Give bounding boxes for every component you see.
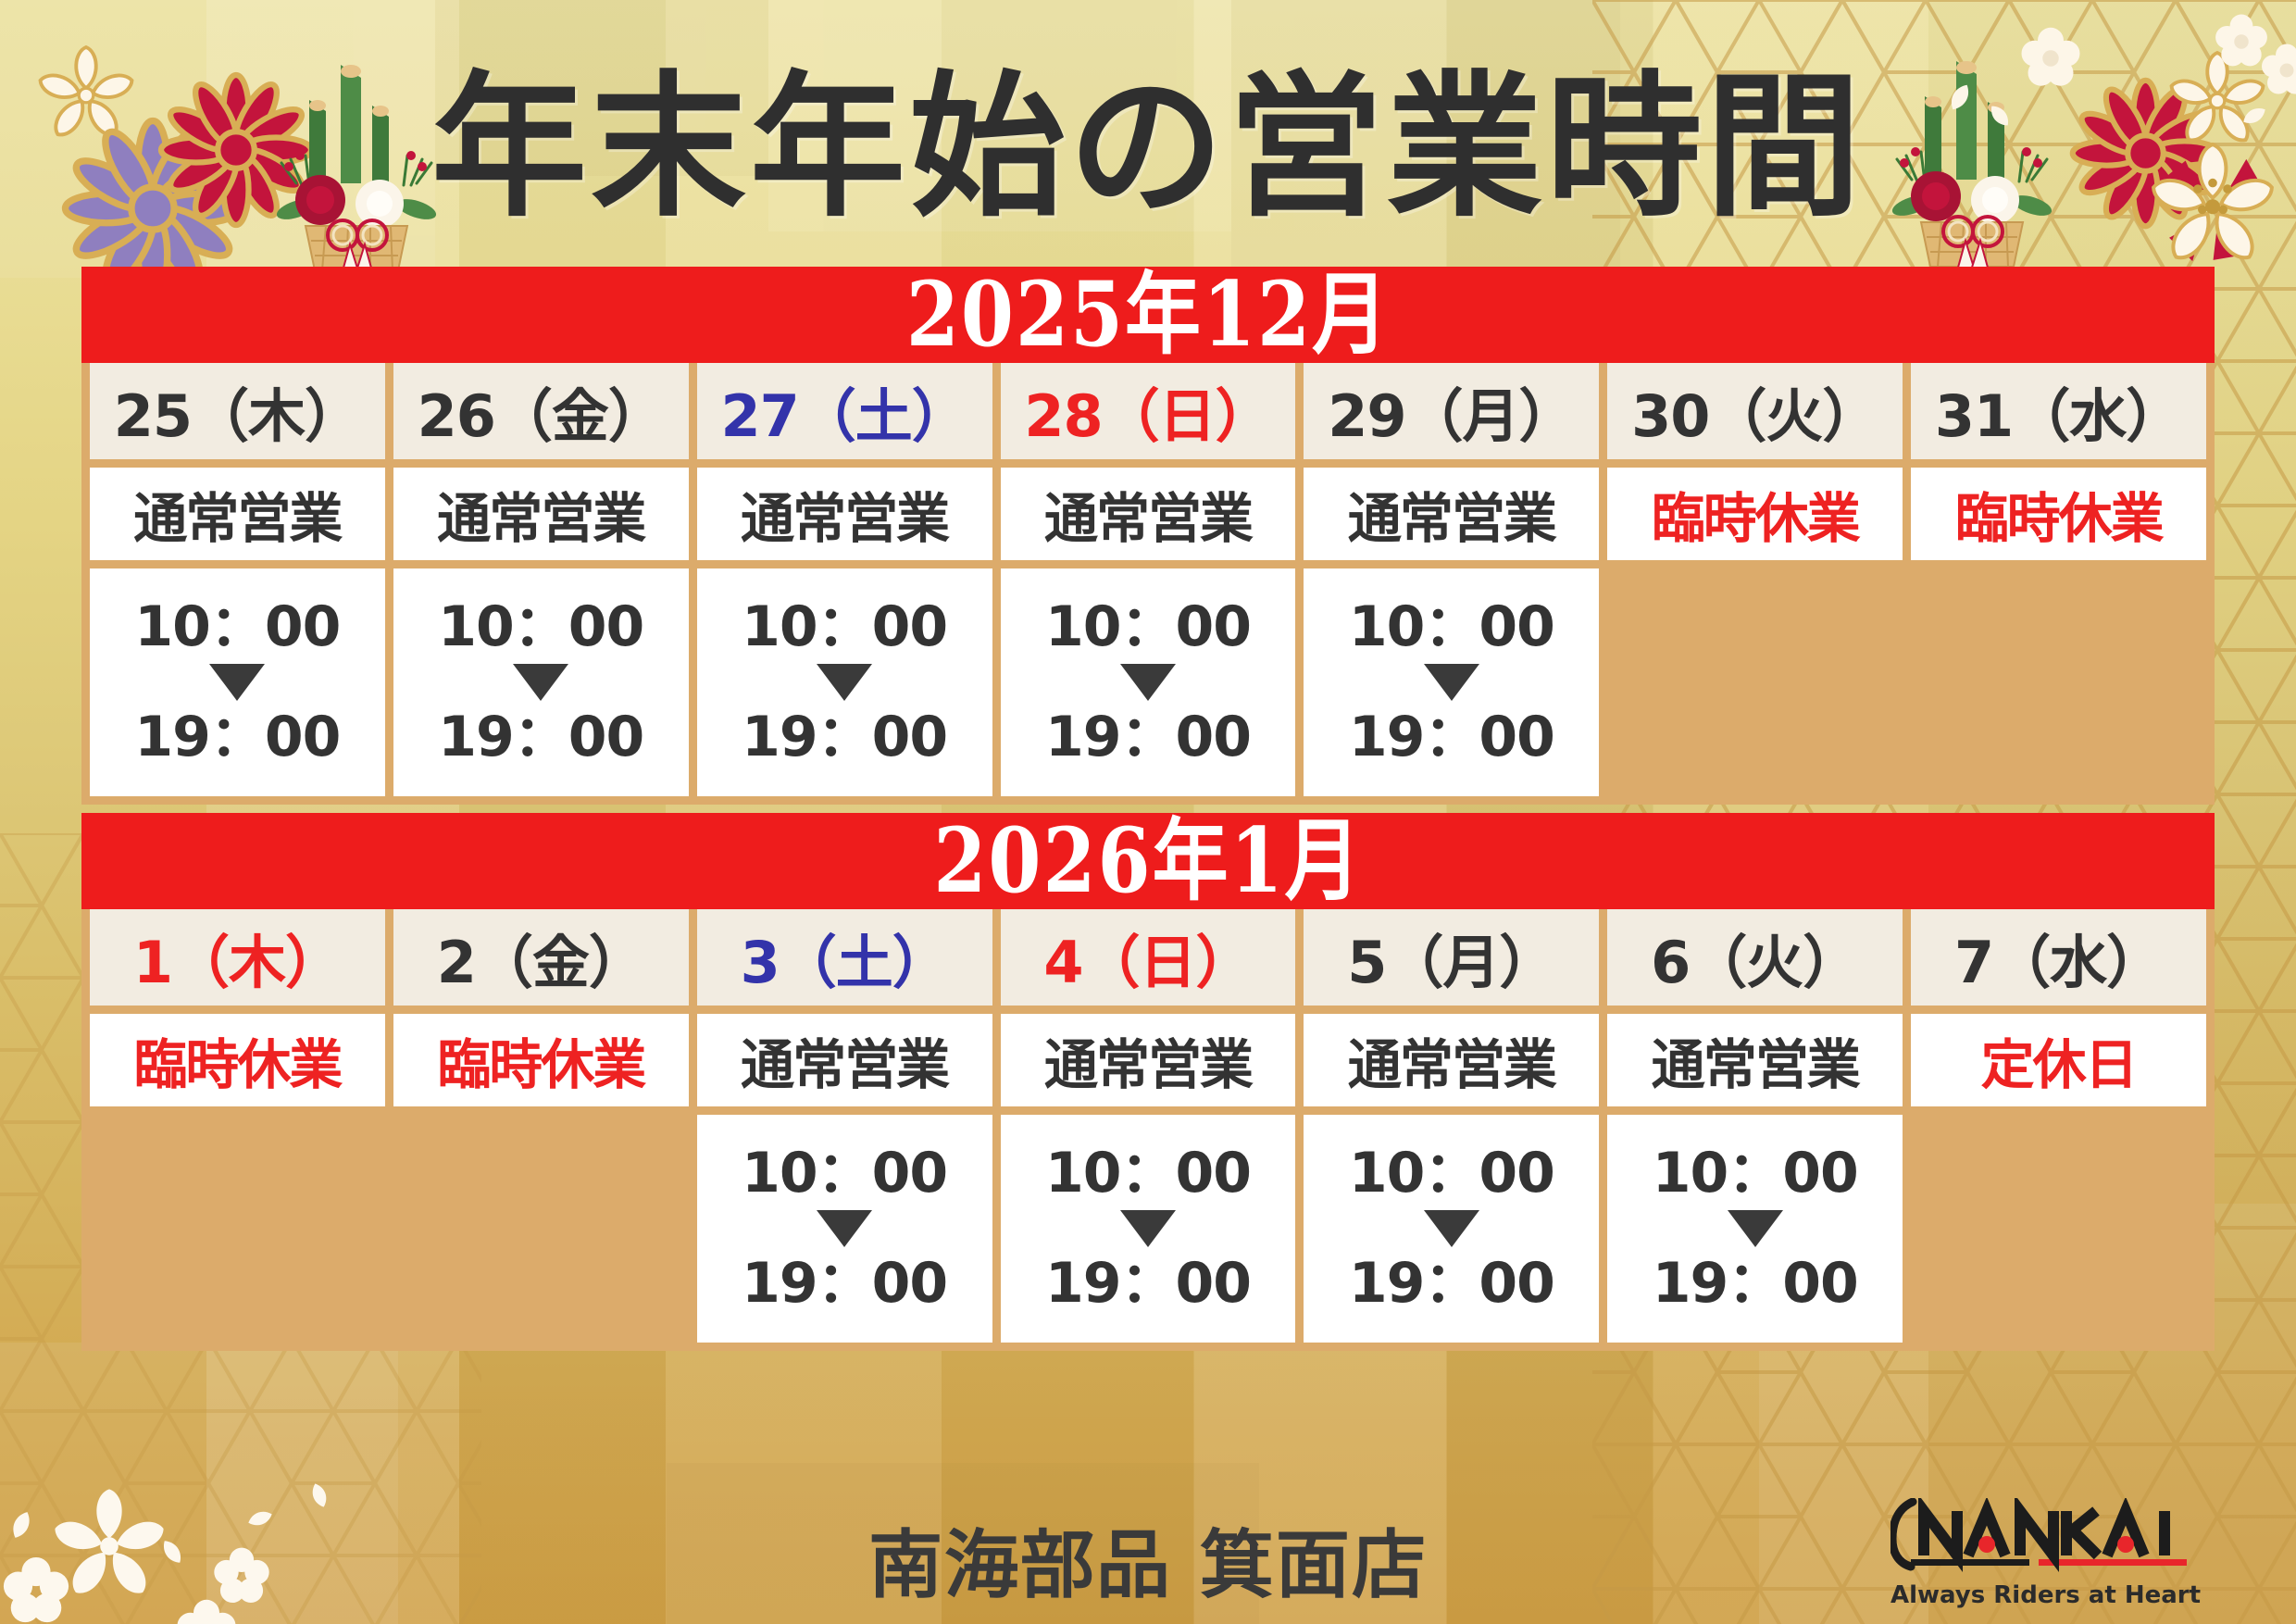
day-header-cell: 2（金） (393, 909, 689, 1006)
down-arrow-icon (1120, 664, 1176, 701)
day-header-cell: 29（月） (1304, 363, 1599, 459)
status-cell: 通常営業 (697, 468, 992, 560)
status-cell: 通常営業 (1607, 1014, 1903, 1106)
hours-cell: 10：00 19：00 (1607, 1115, 1903, 1343)
closing-time: 19：00 (134, 708, 340, 767)
poster-footer: 南海部品 箕面店 (0, 1476, 2296, 1624)
status-cell: 通常営業 (90, 468, 385, 560)
hours-cell: 10：00 19：00 (697, 568, 992, 796)
closing-time: 19：00 (1349, 1255, 1554, 1313)
status-row-december: 通常営業 通常営業 通常営業 通常営業 通常営業 臨時休業 臨時休業 (81, 468, 2215, 568)
hours-cell: 10：00 19：00 (1304, 1115, 1599, 1343)
day-header-cell: 1（木） (90, 909, 385, 1006)
day-header-cell: 28（日） (1001, 363, 1296, 459)
opening-time: 10：00 (1045, 1144, 1251, 1203)
down-arrow-icon (817, 664, 872, 701)
poster-title-row: 年末年始の営業時間 (0, 26, 2296, 267)
status-cell: 通常営業 (1001, 468, 1296, 560)
status-cell: 臨時休業 (1607, 468, 1903, 560)
status-cell: 通常営業 (697, 1014, 992, 1106)
down-arrow-icon (817, 1210, 872, 1247)
hours-cell-empty (393, 1115, 689, 1343)
day-header-cell: 7（水） (1911, 909, 2206, 1006)
closing-time: 19：00 (742, 1255, 947, 1313)
hours-cell: 10：00 19：00 (1001, 1115, 1296, 1343)
status-row-january: 臨時休業 臨時休業 通常営業 通常営業 通常営業 通常営業 定休日 (81, 1014, 2215, 1115)
down-arrow-icon (1424, 1210, 1479, 1247)
hours-cell: 10：00 19：00 (90, 568, 385, 796)
day-header-row-december: 25（木） 26（金） 27（土） 28（日） 29（月） 30（火） 31（水… (81, 363, 2215, 468)
closing-time: 19：00 (1349, 708, 1554, 767)
closing-time: 19：00 (1653, 1255, 1858, 1313)
status-cell: 通常営業 (1304, 468, 1599, 560)
hours-cell: 10：00 19：00 (1001, 568, 1296, 796)
status-cell: 臨時休業 (393, 1014, 689, 1106)
down-arrow-icon (1120, 1210, 1176, 1247)
day-header-cell: 6（火） (1607, 909, 1903, 1006)
logo-tagline: Always Riders at Heart (1890, 1581, 2196, 1609)
opening-time: 10：00 (438, 598, 643, 656)
status-cell: 臨時休業 (1911, 468, 2206, 560)
hours-cell: 10：00 19：00 (697, 1115, 992, 1343)
page-title: 年末年始の営業時間 (431, 69, 1865, 224)
opening-time: 10：00 (134, 598, 340, 656)
month-band-label-january: 2026年1月 (933, 817, 1362, 906)
down-arrow-icon (209, 664, 265, 701)
logo-wordmark: NANKAI (2196, 1498, 2197, 1499)
nankai-logo-icon (1890, 1498, 2196, 1574)
hours-cell: 10：00 19：00 (393, 568, 689, 796)
hours-row-january: 10：00 19：00 10：00 19：00 10：00 19：00 10：0… (81, 1115, 2215, 1351)
schedule-board: 2025年12月 25（木） 26（金） 27（土） 28（日） 29（月） 3… (81, 267, 2215, 1351)
opening-time: 10：00 (742, 598, 947, 656)
day-header-cell: 3（土） (697, 909, 992, 1006)
opening-time: 10：00 (742, 1144, 947, 1203)
opening-time: 10：00 (1349, 598, 1554, 656)
opening-time: 10：00 (1653, 1144, 1858, 1203)
closing-time: 19：00 (438, 708, 643, 767)
day-header-cell: 4（日） (1001, 909, 1296, 1006)
down-arrow-icon (1728, 1210, 1783, 1247)
down-arrow-icon (1424, 664, 1479, 701)
status-cell: 通常営業 (393, 468, 689, 560)
opening-time: 10：00 (1349, 1144, 1554, 1203)
opening-time: 10：00 (1045, 598, 1251, 656)
hours-cell-empty (1607, 568, 1903, 796)
down-arrow-icon (513, 664, 568, 701)
day-header-cell: 30（火） (1607, 363, 1903, 459)
hours-cell-empty (1911, 568, 2206, 796)
closing-time: 19：00 (1045, 708, 1251, 767)
day-header-cell: 26（金） (393, 363, 689, 459)
hours-row-december: 10：00 19：00 10：00 19：00 10：00 19：00 10：0… (81, 568, 2215, 805)
status-cell: 臨時休業 (90, 1014, 385, 1106)
day-header-row-january: 1（木） 2（金） 3（土） 4（日） 5（月） 6（火） 7（水） (81, 909, 2215, 1014)
month-band-label-december: 2025年12月 (906, 270, 1390, 360)
closing-time: 19：00 (1045, 1255, 1251, 1313)
hours-cell-empty (90, 1115, 385, 1343)
day-header-cell: 27（土） (697, 363, 992, 459)
nankai-logo: Always Riders at Heart NANKAI (1890, 1498, 2196, 1611)
day-header-cell: 5（月） (1304, 909, 1599, 1006)
day-header-cell: 31（水） (1911, 363, 2206, 459)
hours-cell-empty (1911, 1115, 2206, 1343)
status-cell: 定休日 (1911, 1014, 2206, 1106)
closing-time: 19：00 (742, 708, 947, 767)
new-year-hours-poster: 年末年始の営業時間 2025年12月 25（木） 26（金） 27（土） 28（… (0, 0, 2296, 1624)
month-band-december: 2025年12月 (81, 267, 2215, 363)
day-header-cell: 25（木） (90, 363, 385, 459)
status-cell: 通常営業 (1304, 1014, 1599, 1106)
hours-cell: 10：00 19：00 (1304, 568, 1599, 796)
status-cell: 通常営業 (1001, 1014, 1296, 1106)
month-band-january: 2026年1月 (81, 813, 2215, 909)
